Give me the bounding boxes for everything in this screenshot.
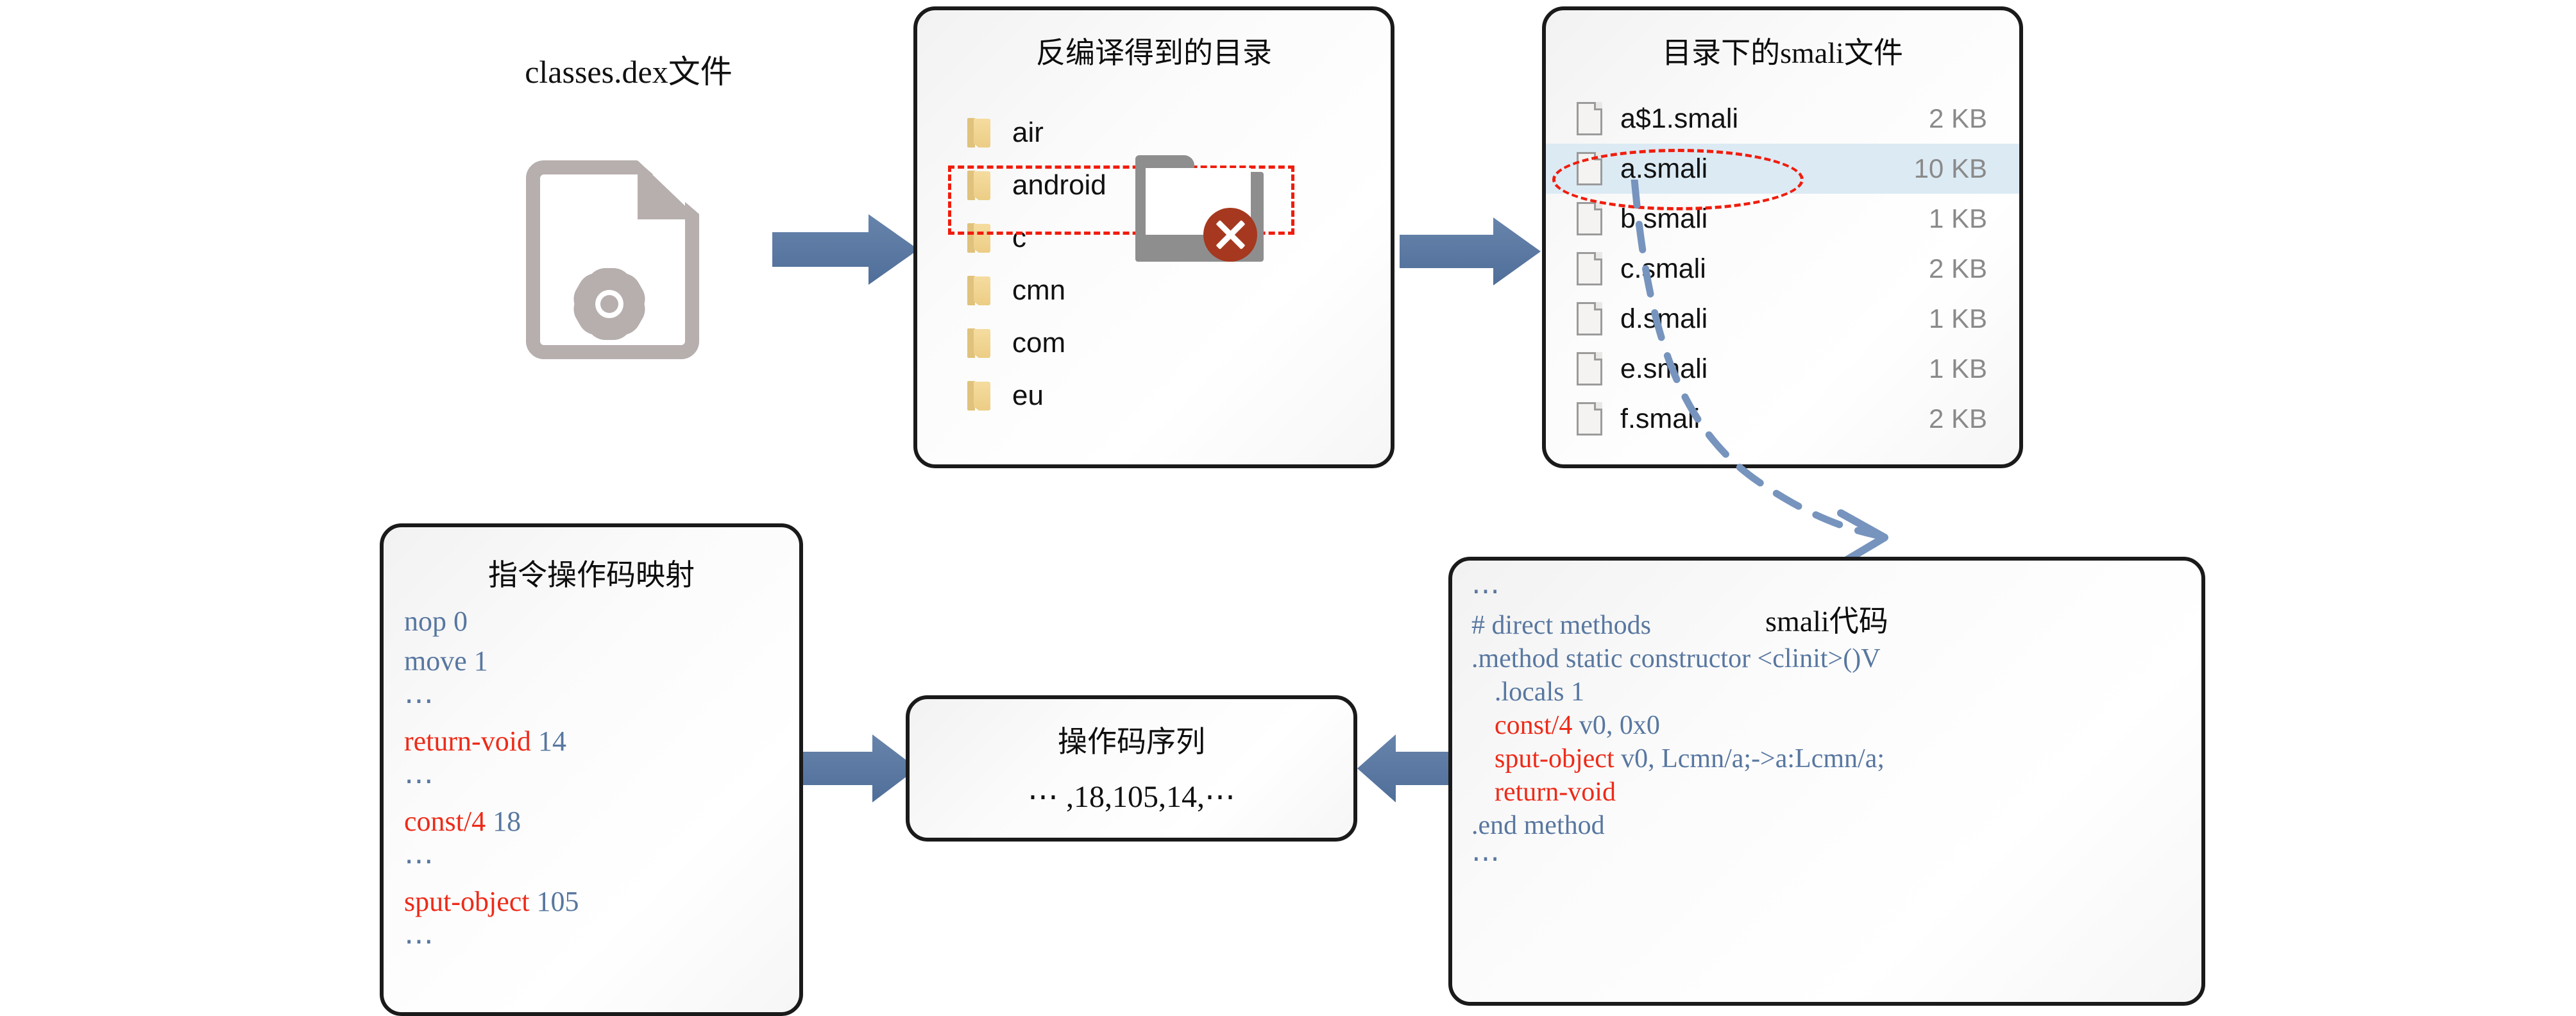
dex-file-gear-icon — [526, 160, 699, 359]
a-smali-annotation-ellipse — [1552, 149, 1804, 210]
opcode-sequence-value: ⋯ ,18,105,14,⋯ — [910, 779, 1353, 815]
opcode-mnemonic: return-void — [404, 725, 531, 757]
error-x-badge — [1203, 208, 1257, 262]
folder-list: air android c cmn com eu — [967, 106, 1106, 422]
code-mnemonic: const/4 — [1495, 711, 1572, 740]
file-icon — [1577, 102, 1602, 135]
opcode-map-title: 指令操作码映射 — [384, 552, 799, 594]
folder-icon — [967, 276, 990, 305]
code-line: .method static constructor <clinit>()V — [1471, 642, 2192, 675]
list-item[interactable]: air — [967, 106, 1106, 159]
arrow-code-to-sequence — [1357, 732, 1453, 804]
opcode-value: 14 — [538, 725, 566, 757]
file-name: d.smali — [1620, 303, 1707, 335]
smali-files-box-title: 目录下的smali文件 — [1546, 30, 2019, 72]
gear-glyph — [576, 271, 643, 337]
opcode-mnemonic: sput-object — [404, 886, 530, 917]
code-text: # direct methods — [1471, 611, 1651, 640]
table-row[interactable]: f.smali 2 KB — [1546, 394, 2019, 444]
ellipsis: ⋯ — [404, 925, 436, 958]
list-item: ⋯ — [404, 681, 786, 722]
file-name: a$1.smali — [1620, 103, 1738, 135]
table-row[interactable]: e.smali 1 KB — [1546, 344, 2019, 394]
table-row[interactable]: a$1.smali 2 KB — [1546, 94, 2019, 144]
file-name: e.smali — [1620, 353, 1707, 385]
table-row[interactable]: d.smali 1 KB — [1546, 294, 2019, 344]
smali-code-box: smali代码 ⋯ # direct methods .method stati… — [1448, 557, 2205, 1006]
arrow-dex-to-directory — [772, 212, 920, 287]
opcode-mnemonic: move — [404, 645, 467, 677]
code-line: return-void — [1471, 775, 2192, 809]
directory-box-title: 反编译得到的目录 — [917, 30, 1391, 72]
file-icon — [1577, 352, 1602, 385]
opcode-mnemonic: const/4 — [404, 806, 486, 837]
code-line: # direct methods — [1471, 609, 2192, 642]
code-line: .locals 1 — [1471, 675, 2192, 709]
list-item: ⋯ — [404, 922, 786, 962]
smali-code-lines: ⋯ # direct methods .method static constr… — [1471, 575, 2192, 876]
list-item: return-void 14 — [404, 722, 786, 761]
folder-name: eu — [1012, 382, 1044, 410]
opcode-sequence-box: 操作码序列 ⋯ ,18,105,14,⋯ — [906, 695, 1357, 842]
code-line: .end method — [1471, 809, 2192, 842]
folder-icon — [967, 381, 990, 411]
folder-icon — [967, 328, 990, 358]
opcode-sequence-title: 操作码序列 — [910, 718, 1353, 761]
list-item[interactable]: eu — [967, 369, 1106, 422]
opcode-value: 1 — [474, 645, 488, 677]
file-size: 2 KB — [1929, 253, 1987, 284]
file-size: 2 KB — [1929, 403, 1987, 434]
file-size: 10 KB — [1914, 153, 1987, 184]
code-line: ⋯ — [1471, 842, 2192, 876]
ellipsis: ⋯ — [404, 845, 436, 877]
list-item: nop 0 — [404, 602, 786, 641]
code-line: const/4 v0, 0x0 — [1471, 709, 2192, 742]
diagram-canvas: classes.dex文件 反编译得到的目录 air android — [0, 0, 2576, 1015]
file-size: 2 KB — [1929, 103, 1987, 134]
list-item: ⋯ — [404, 842, 786, 882]
ellipsis: ⋯ — [404, 765, 436, 797]
smali-files-box: 目录下的smali文件 a$1.smali 2 KB a.smali 10 KB… — [1542, 6, 2023, 468]
folder-name: air — [1012, 119, 1044, 147]
opcode-value: 105 — [537, 886, 579, 917]
smali-file-list: a$1.smali 2 KB a.smali 10 KB b.smali 1 K… — [1546, 94, 2019, 444]
code-mnemonic: sput-object — [1495, 744, 1614, 774]
folder-icon — [967, 118, 990, 148]
file-size: 1 KB — [1929, 303, 1987, 334]
arrow-directory-to-smali-files — [1400, 216, 1542, 287]
code-text: .method static constructor <clinit>()V — [1471, 644, 1881, 673]
code-text: .end method — [1471, 811, 1605, 840]
classes-dex-label: classes.dex文件 — [494, 46, 763, 92]
ellipsis: ⋯ — [404, 684, 436, 717]
opcode-value: 18 — [493, 806, 521, 837]
folder-error-x-icon — [1134, 154, 1269, 263]
list-item[interactable]: com — [967, 317, 1106, 369]
file-name: c.smali — [1620, 253, 1706, 285]
list-item: ⋯ — [404, 761, 786, 802]
code-text: v0, 0x0 — [1572, 711, 1660, 740]
list-item: sput-object 105 — [404, 882, 786, 922]
file-size: 1 KB — [1929, 353, 1987, 384]
file-size: 1 KB — [1929, 203, 1987, 234]
table-row[interactable]: c.smali 2 KB — [1546, 244, 2019, 294]
code-line: sput-object v0, Lcmn/a;->a:Lcmn/a; — [1471, 742, 2192, 775]
list-item: move 1 — [404, 641, 786, 681]
opcode-value: 0 — [453, 605, 468, 637]
file-icon — [1577, 252, 1602, 285]
opcode-mnemonic: nop — [404, 605, 446, 637]
file-icon — [1577, 402, 1602, 436]
list-item: const/4 18 — [404, 802, 786, 842]
ellipsis: ⋯ — [1471, 843, 1502, 874]
file-icon — [1577, 302, 1602, 335]
file-icon — [1577, 202, 1602, 235]
folder-name: com — [1012, 329, 1065, 357]
arrow-map-to-sequence — [803, 732, 919, 804]
code-text: .locals 1 — [1495, 677, 1584, 707]
ellipsis: ⋯ — [1471, 575, 1502, 607]
folder-name: cmn — [1012, 276, 1065, 305]
code-text: v0, Lcmn/a;->a:Lcmn/a; — [1614, 744, 1885, 774]
file-name: f.smali — [1620, 403, 1700, 435]
code-line: ⋯ — [1471, 575, 2192, 609]
opcode-map-box: 指令操作码映射 nop 0 move 1 ⋯ return-void 14 ⋯ … — [380, 523, 803, 1016]
code-mnemonic: return-void — [1495, 777, 1616, 807]
list-item[interactable]: cmn — [967, 264, 1106, 317]
opcode-map-list: nop 0 move 1 ⋯ return-void 14 ⋯ const/4 … — [404, 602, 786, 962]
